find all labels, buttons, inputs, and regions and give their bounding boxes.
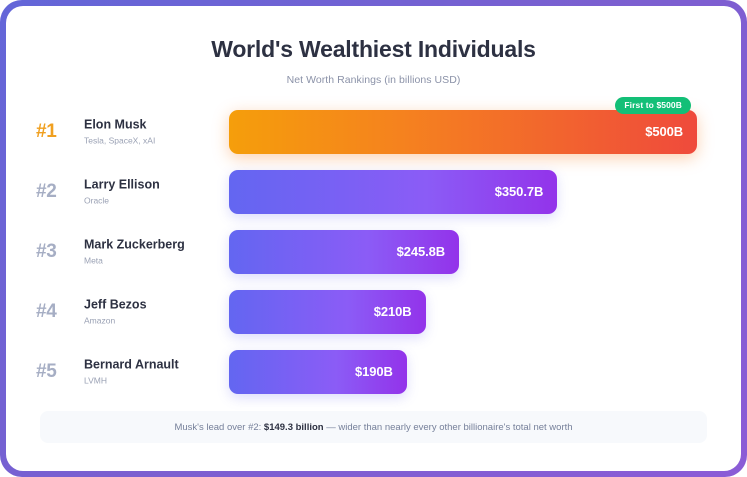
value-bar[interactable]: $245.8B: [229, 230, 459, 274]
footer-note: Musk's lead over #2: $149.3 billion — wi…: [40, 411, 707, 443]
person-info: Larry Ellison Oracle: [84, 177, 224, 206]
person-info: Jeff Bezos Amazon: [84, 297, 224, 326]
rank-label: #3: [36, 241, 76, 263]
value-bar[interactable]: $500B: [229, 110, 697, 154]
status-badge: First to $500B: [615, 97, 691, 114]
rank-label: #1: [36, 121, 76, 143]
person-name: Jeff Bezos: [84, 297, 224, 313]
bar-value-label: $210B: [374, 304, 412, 319]
person-info: Bernard Arnault LVMH: [84, 357, 224, 386]
bar-track: $210B: [229, 290, 697, 334]
value-bar[interactable]: $350.7B: [229, 170, 557, 214]
bar-track: $350.7B: [229, 170, 697, 214]
bar-value-label: $350.7B: [495, 184, 543, 199]
person-company: Amazon: [84, 316, 224, 327]
bar-value-label: $245.8B: [397, 244, 445, 259]
person-company: LVMH: [84, 376, 224, 387]
infographic-card-frame: World's Wealthiest Individuals Net Worth…: [0, 0, 747, 477]
person-company: Tesla, SpaceX, xAI: [84, 136, 224, 147]
bar-track: $245.8B: [229, 230, 697, 274]
infographic-card: World's Wealthiest Individuals Net Worth…: [6, 6, 741, 471]
value-bar[interactable]: $210B: [229, 290, 426, 334]
page-title: World's Wealthiest Individuals: [6, 36, 741, 64]
list-item[interactable]: #5 Bernard Arnault LVMH $190B: [6, 342, 717, 402]
footer-text: Musk's lead over #2: $149.3 billion — wi…: [174, 422, 572, 433]
bar-track: First to $500B $500B: [229, 110, 697, 154]
page-subtitle: Net Worth Rankings (in billions USD): [6, 74, 741, 86]
bar-value-label: $500B: [645, 124, 683, 139]
person-company: Oracle: [84, 196, 224, 207]
person-info: Elon Musk Tesla, SpaceX, xAI: [84, 117, 224, 146]
list-item[interactable]: #4 Jeff Bezos Amazon $210B: [6, 282, 717, 342]
bar-value-label: $190B: [355, 364, 393, 379]
person-name: Mark Zuckerberg: [84, 237, 224, 253]
rank-label: #5: [36, 361, 76, 383]
footer-highlight: $149.3 billion: [264, 422, 324, 433]
person-company: Meta: [84, 256, 224, 267]
person-name: Elon Musk: [84, 117, 224, 133]
value-bar[interactable]: $190B: [229, 350, 407, 394]
person-name: Larry Ellison: [84, 177, 224, 193]
list-item[interactable]: #2 Larry Ellison Oracle $350.7B: [6, 162, 717, 222]
person-name: Bernard Arnault: [84, 357, 224, 373]
list-item[interactable]: #3 Mark Zuckerberg Meta $245.8B: [6, 222, 717, 282]
footer-prefix: Musk's lead over #2:: [174, 422, 263, 433]
list-item[interactable]: #1 Elon Musk Tesla, SpaceX, xAI First to…: [6, 102, 717, 162]
rank-label: #4: [36, 301, 76, 323]
person-info: Mark Zuckerberg Meta: [84, 237, 224, 266]
header: World's Wealthiest Individuals Net Worth…: [6, 6, 741, 86]
rank-label: #2: [36, 181, 76, 203]
bar-track: $190B: [229, 350, 697, 394]
footer-suffix: — wider than nearly every other billiona…: [324, 422, 573, 433]
ranking-list: #1 Elon Musk Tesla, SpaceX, xAI First to…: [6, 102, 741, 402]
